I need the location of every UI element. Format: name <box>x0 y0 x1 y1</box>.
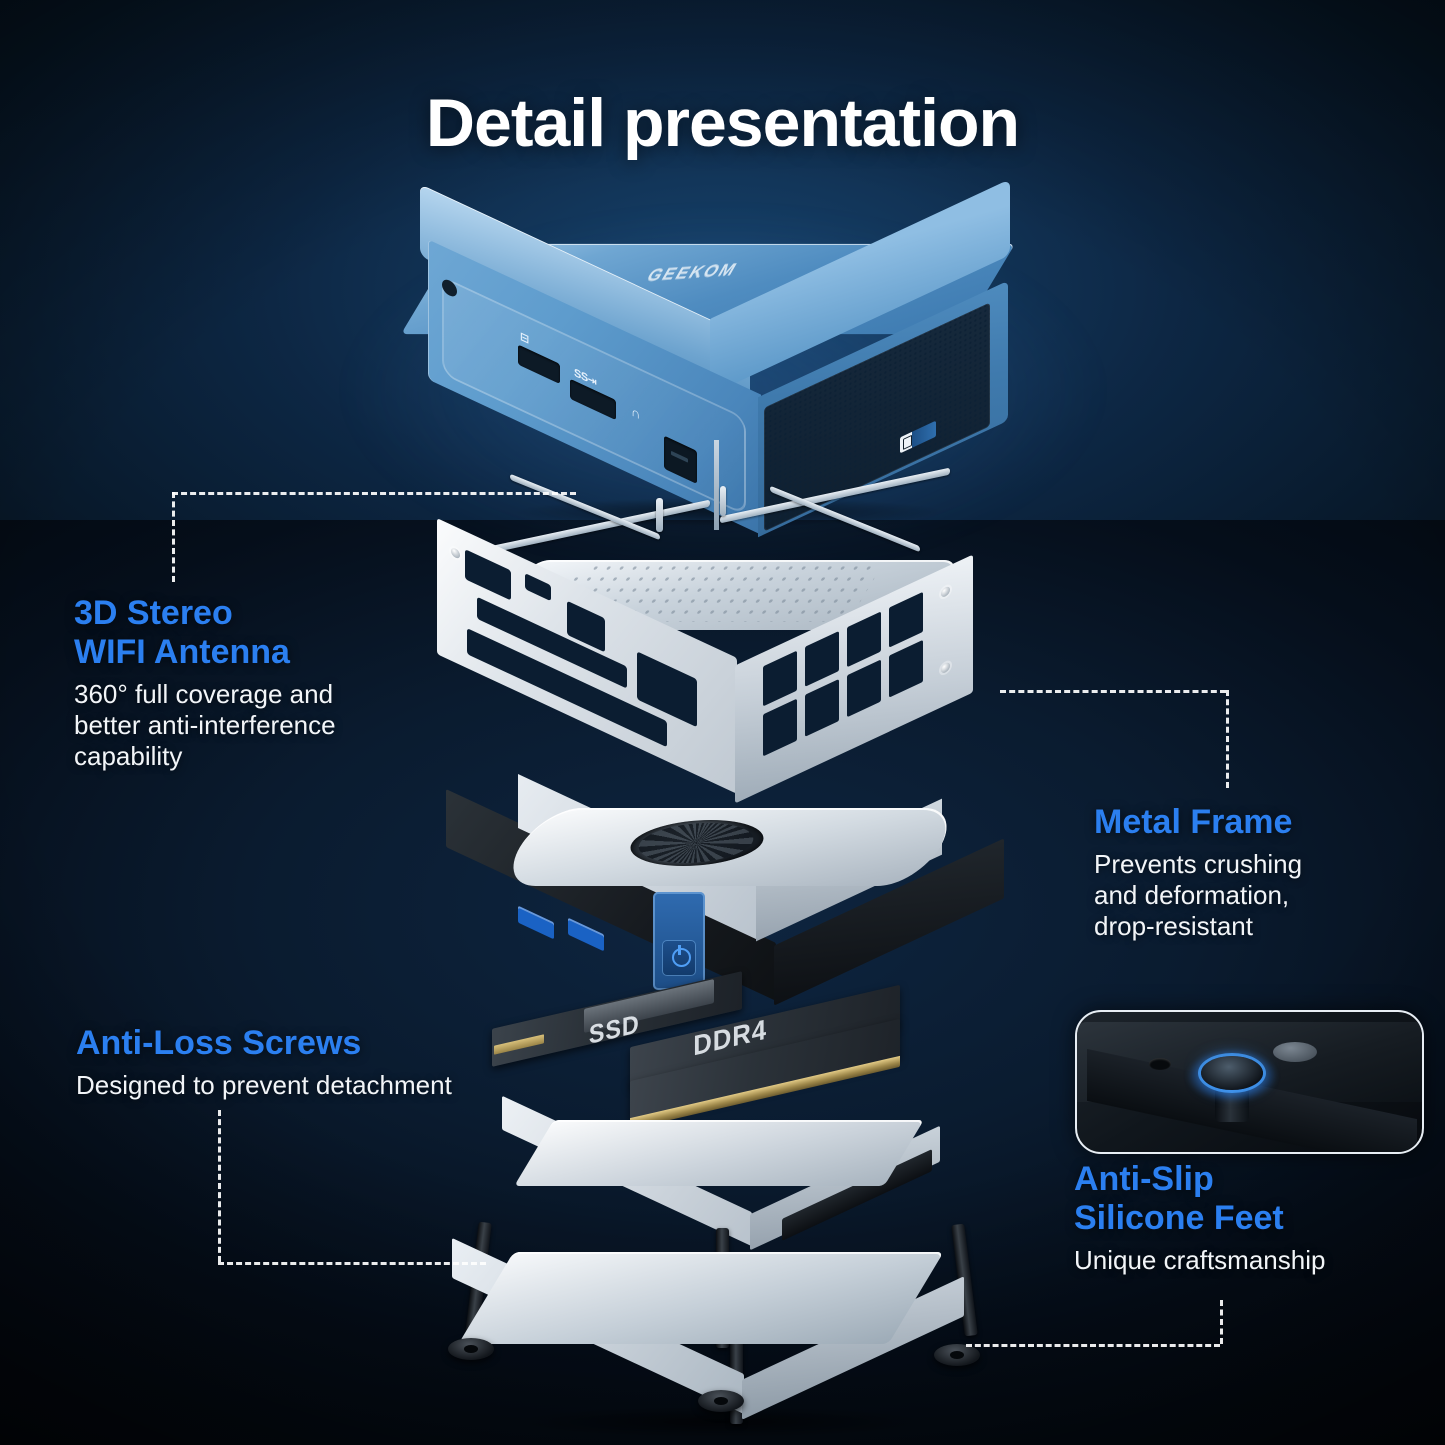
callout-anti-slip-feet: Anti-Slip Silicone Feet Unique craftsman… <box>1074 1160 1424 1276</box>
callout-antenna-heading: 3D Stereo WIFI Antenna <box>74 594 434 672</box>
silicone-foot <box>698 1390 744 1412</box>
usb3-port <box>568 918 604 952</box>
base-plate-part <box>430 1240 1010 1420</box>
rectangular-port <box>664 436 697 484</box>
usb3-port <box>518 906 554 940</box>
leader-line-antenna <box>172 492 175 582</box>
antenna-wire <box>656 498 663 532</box>
leader-line-feet <box>1220 1300 1223 1344</box>
wifi-antenna-assembly <box>470 486 970 561</box>
callout-anti-slip-feet-body: Unique craftsmanship <box>1074 1245 1424 1276</box>
motherboard-assembly <box>440 808 1020 988</box>
mini-pc-body: GEEKOM ⊟ SS⇥ ∩ <box>420 243 1020 508</box>
callout-metal-frame-heading: Metal Frame <box>1094 803 1404 842</box>
leader-line-metal-frame <box>1000 690 1226 693</box>
callout-metal-frame-body: Prevents crushing and deformation, drop-… <box>1094 849 1404 943</box>
drive-tray-part <box>490 1120 970 1250</box>
usb-c-icon: ⊟ <box>520 329 529 346</box>
leader-line-antenna <box>172 492 576 495</box>
callout-antenna-body: 360° full coverage and better anti-inter… <box>74 679 434 773</box>
antenna-stem <box>714 440 719 530</box>
callout-anti-loss-screws: Anti-Loss Screws Designed to prevent det… <box>76 1024 546 1101</box>
silicone-foot <box>934 1344 980 1366</box>
leader-line-screws <box>218 1110 221 1262</box>
antenna-wire <box>720 486 726 516</box>
base-top-plate <box>458 1252 943 1344</box>
power-icon <box>672 948 691 967</box>
closeup-silicone-foot <box>1201 1056 1263 1090</box>
closeup-screw-hole <box>1149 1058 1171 1070</box>
leader-line-feet <box>966 1344 1220 1347</box>
callout-anti-loss-screws-body: Designed to prevent detachment <box>76 1070 546 1101</box>
callout-metal-frame: Metal Frame Prevents crushing and deform… <box>1094 803 1404 942</box>
silicone-foot <box>448 1338 494 1360</box>
leader-line-screws <box>218 1262 486 1265</box>
callout-anti-slip-feet-heading: Anti-Slip Silicone Feet <box>1074 1160 1424 1238</box>
anti-slip-foot-closeup-panel <box>1075 1010 1424 1154</box>
metal-frame-part <box>425 560 1025 790</box>
tray-top-plate <box>514 1120 924 1186</box>
infographic-canvas: Detail presentation GEEKOM ⊟ SS⇥ ∩ <box>0 0 1445 1445</box>
headphone-icon: ∩ <box>631 403 640 422</box>
closeup-disc <box>1273 1042 1317 1062</box>
usb-c-port <box>518 344 560 384</box>
callout-antenna: 3D Stereo WIFI Antenna 360° full coverag… <box>74 594 434 772</box>
leader-line-metal-frame <box>1226 690 1229 788</box>
callout-anti-loss-screws-heading: Anti-Loss Screws <box>76 1024 546 1063</box>
